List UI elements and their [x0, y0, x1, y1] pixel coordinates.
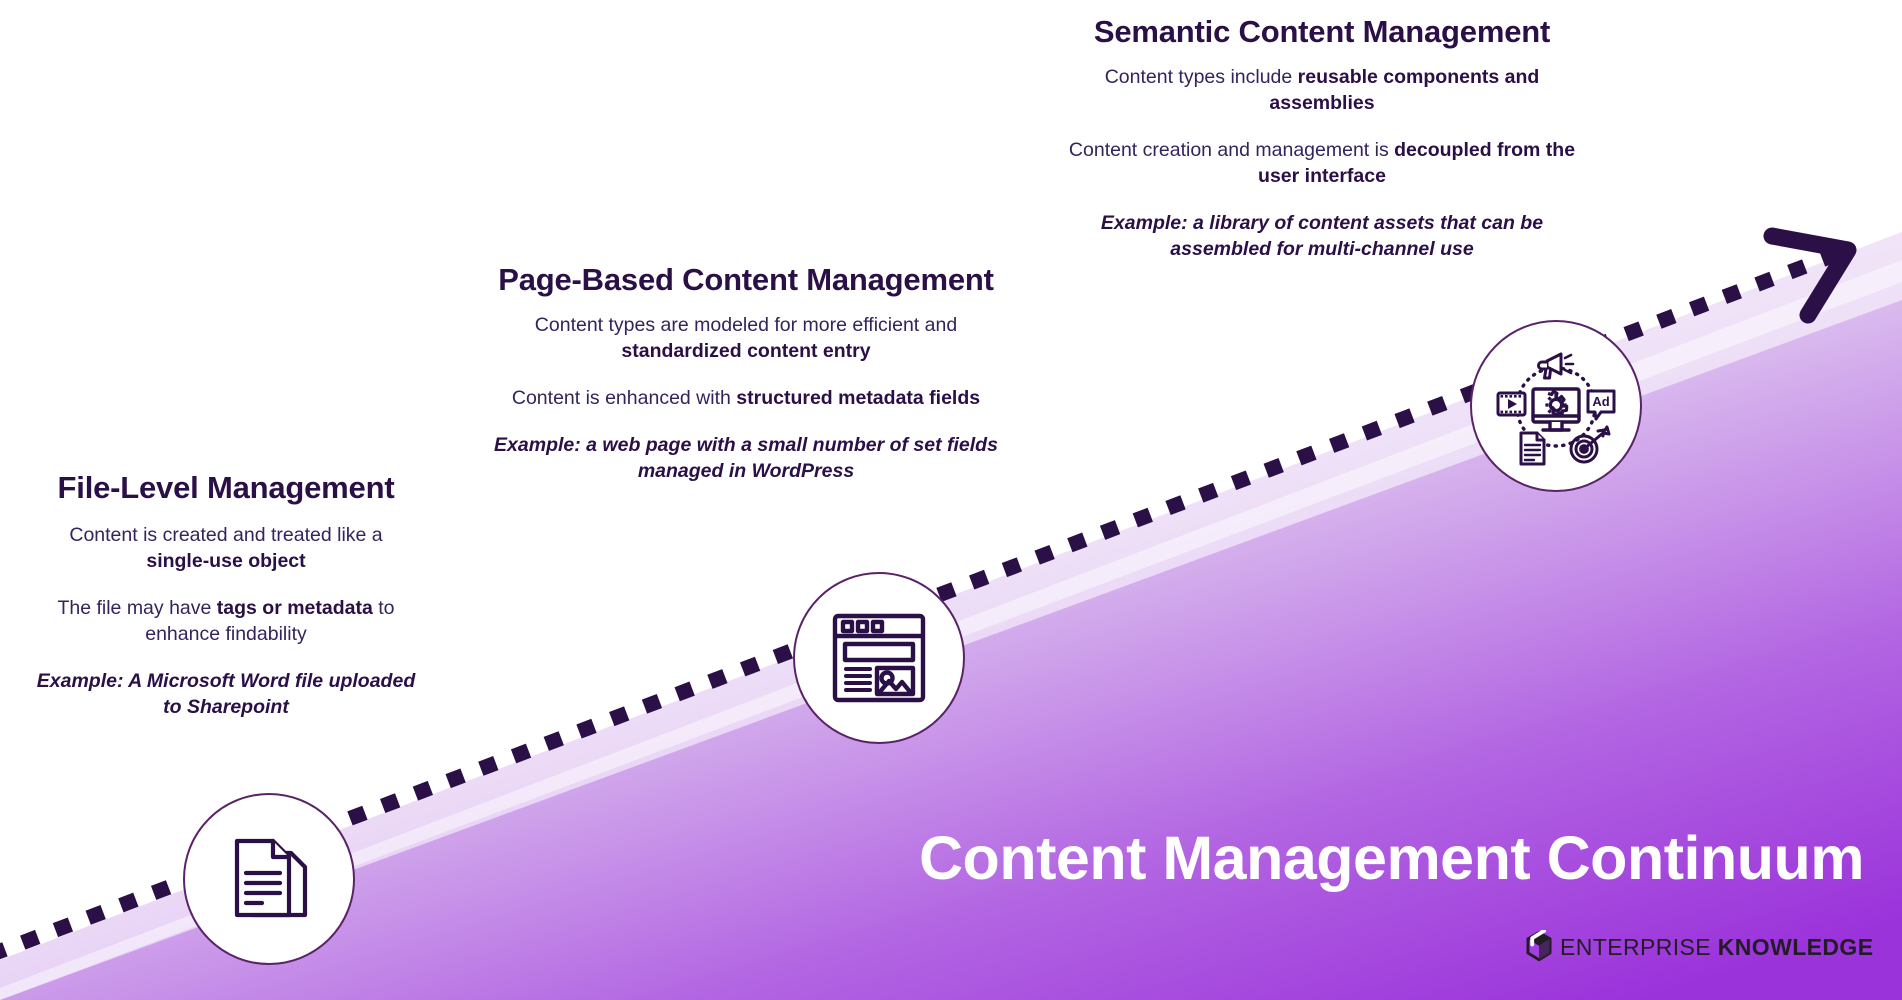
- svg-text:Ad: Ad: [1592, 394, 1609, 409]
- logo-wordmark: ENTERPRISE KNOWLEDGE: [1560, 936, 1873, 959]
- stage-1-bullet-1-lead: Content is created and treated like a: [69, 524, 382, 546]
- stage-3-text-block: Semantic Content Management Content type…: [1052, 14, 1592, 262]
- stage-1-bullet-2-lead: The file may have: [57, 597, 216, 619]
- logo-word-enterprise: ENTERPRISE: [1560, 934, 1711, 960]
- stage-2-heading: Page-Based Content Management: [486, 262, 1006, 298]
- stage-3-bullet-2-lead: Content creation and management is: [1069, 139, 1394, 161]
- stage-3-node-circle: Ad: [1470, 320, 1642, 492]
- stage-3-bullet-1-lead: Content types include: [1105, 66, 1298, 88]
- stage-1-text-block: File-Level Management Content is created…: [36, 470, 416, 720]
- stage-1-example: Example: A Microsoft Word file uploaded …: [36, 668, 416, 720]
- logo-word-knowledge: KNOWLEDGE: [1718, 934, 1874, 960]
- main-title: Content Management Continuum: [752, 828, 1864, 889]
- stage-2-bullet-1-strong: standardized content entry: [621, 340, 870, 362]
- stage-2-bullet-2-strong: structured metadata fields: [736, 387, 980, 409]
- documents-icon: [219, 829, 319, 929]
- stage-1-bullet-1: Content is created and treated like a si…: [36, 522, 416, 574]
- stage-1-node-circle: [183, 793, 355, 965]
- stage-2-bullet-2-lead: Content is enhanced with: [512, 387, 736, 409]
- infographic-canvas: File-Level Management Content is created…: [0, 0, 1902, 1000]
- stage-1-bullet-1-strong: single-use object: [146, 550, 305, 572]
- stage-2-bullet-1: Content types are modeled for more effic…: [486, 312, 1006, 364]
- stage-1-heading: File-Level Management: [36, 470, 416, 506]
- stage-3-bullet-1: Content types include reusable component…: [1052, 64, 1592, 116]
- stage-2-node-circle: [793, 572, 965, 744]
- stage-3-example: Example: a library of content assets tha…: [1052, 210, 1592, 262]
- stage-2-bullet-2: Content is enhanced with structured meta…: [486, 385, 1006, 411]
- stage-2-bullet-1-lead: Content types are modeled for more effic…: [535, 314, 957, 336]
- stage-3-bullet-1-strong: reusable components and assemblies: [1269, 66, 1539, 114]
- stage-3-heading: Semantic Content Management: [1052, 14, 1592, 50]
- omnichannel-content-icon: Ad: [1495, 345, 1617, 467]
- webpage-layout-icon: [827, 606, 931, 710]
- stage-1-bullet-2-strong: tags or metadata: [217, 597, 373, 619]
- enterprise-knowledge-cube-icon: [1522, 930, 1556, 964]
- stage-2-example: Example: a web page with a small number …: [486, 432, 1006, 484]
- enterprise-knowledge-logo: ENTERPRISE KNOWLEDGE: [1522, 930, 1873, 964]
- stage-1-bullet-2: The file may have tags or metadata to en…: [36, 595, 416, 647]
- stage-2-text-block: Page-Based Content Management Content ty…: [486, 262, 1006, 484]
- stage-3-bullet-2: Content creation and management is decou…: [1052, 137, 1592, 189]
